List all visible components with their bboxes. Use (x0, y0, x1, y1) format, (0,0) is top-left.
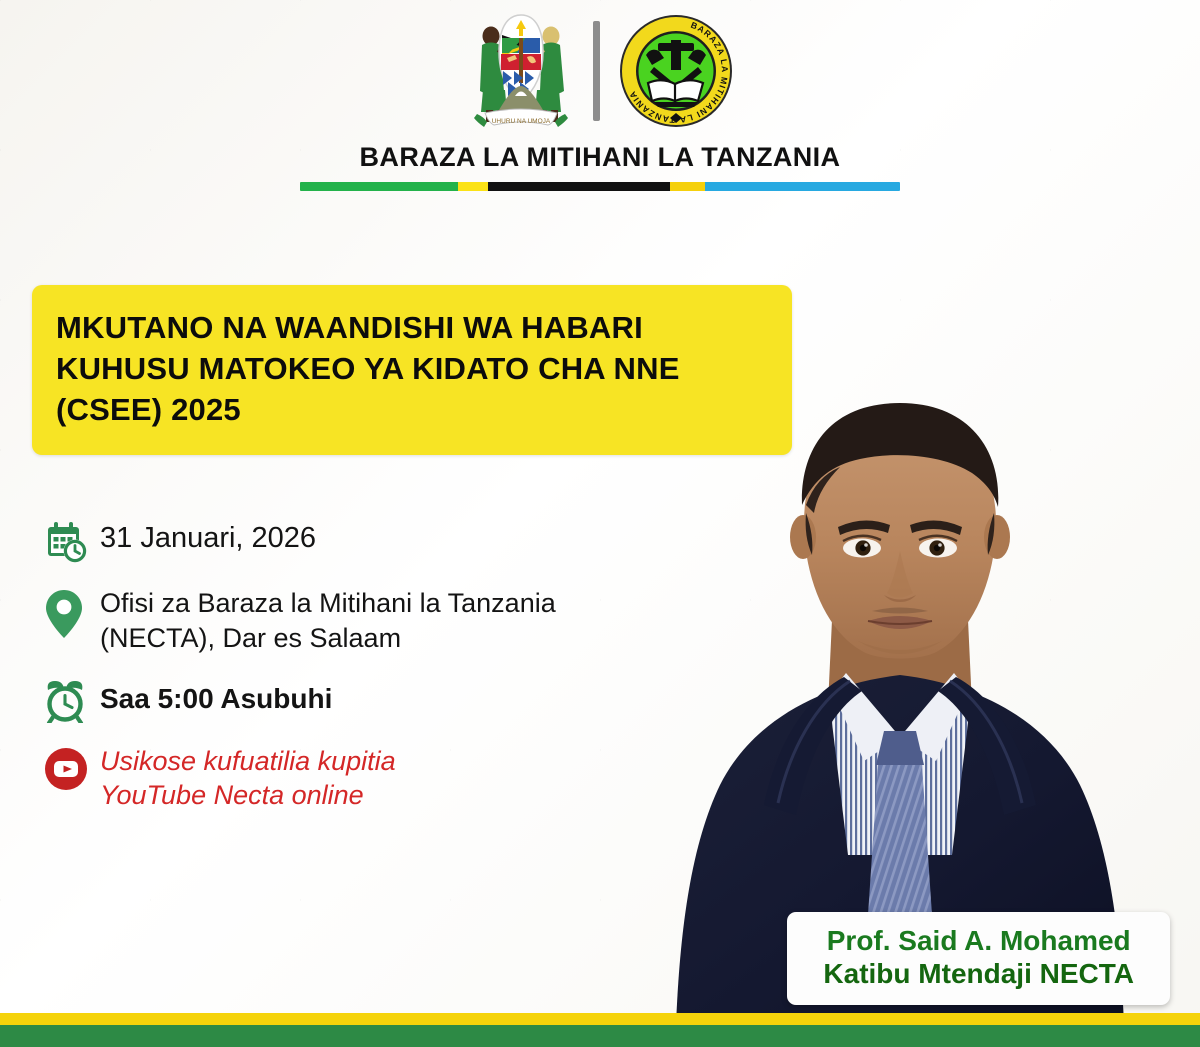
nameplate-name: Prof. Said A. Mohamed (823, 924, 1134, 958)
svg-text:UHURU NA UMOJA: UHURU NA UMOJA (491, 118, 550, 125)
detail-row-location: Ofisi za Baraza la Mitihani la Tanzania … (44, 586, 744, 655)
detail-location-line-1: Ofisi za Baraza la Mitihani la Tanzania (100, 586, 556, 621)
stripe-segment-black (488, 182, 670, 191)
headline-line-3: (CSEE) 2025 (56, 389, 768, 430)
youtube-icon[interactable] (44, 747, 88, 791)
detail-stream-line-2: YouTube Necta online (100, 779, 396, 813)
logo-divider (593, 21, 600, 121)
stripe-segment-yellow (458, 182, 488, 191)
poster-canvas: UHURU NA UMOJA BARAZA LA MITIHANI LA TAN… (0, 0, 1200, 1047)
detail-stream-line-1: Usikose kufuatilia kupitia (100, 745, 396, 779)
youtube-icon-wrap[interactable] (44, 745, 100, 791)
stripe-segment-blue (705, 182, 900, 191)
logo-row: UHURU NA UMOJA BARAZA LA MITIHANI LA TAN… (467, 10, 734, 132)
necta-emblem-icon: BARAZA LA MITIHANI LA TANZANIA (618, 13, 734, 129)
calendar-clock-icon (44, 520, 88, 564)
alarm-clock-icon-wrap (44, 677, 100, 723)
footer-yellow-bar (0, 1013, 1200, 1025)
headline-line-2: KUHUSU MATOKEO YA KIDATO CHA NNE (56, 348, 768, 389)
detail-row-date: 31 Januari, 2026 (44, 518, 744, 564)
alarm-clock-icon (44, 679, 86, 723)
poster-header: UHURU NA UMOJA BARAZA LA MITIHANI LA TAN… (0, 0, 1200, 205)
detail-row-time: Saa 5:00 Asubuhi (44, 677, 744, 723)
detail-location-text: Ofisi za Baraza la Mitihani la Tanzania … (100, 586, 556, 655)
event-details-list: 31 Januari, 2026 Ofisi za Baraza la Miti… (44, 518, 744, 835)
detail-location-line-2: (NECTA), Dar es Salaam (100, 621, 556, 656)
stripe-segment-yellow-2 (670, 182, 705, 191)
detail-time-text: Saa 5:00 Asubuhi (100, 677, 332, 717)
detail-stream-text: Usikose kufuatilia kupitia YouTube Necta… (100, 745, 396, 813)
nameplate-title: Katibu Mtendaji NECTA (823, 957, 1134, 991)
location-pin-icon-wrap (44, 586, 100, 640)
calendar-clock-icon-wrap (44, 518, 100, 564)
location-pin-icon (44, 588, 84, 640)
organization-title: BARAZA LA MITIHANI LA TANZANIA (360, 142, 841, 173)
flag-color-stripe (300, 182, 900, 191)
detail-row-stream: Usikose kufuatilia kupitia YouTube Necta… (44, 745, 744, 813)
coat-of-arms-icon: UHURU NA UMOJA (467, 10, 575, 132)
headline-line-1: MKUTANO NA WAANDISHI WA HABARI (56, 307, 768, 348)
footer-green-bar (0, 1025, 1200, 1047)
nameplate-card: Prof. Said A. Mohamed Katibu Mtendaji NE… (787, 912, 1170, 1005)
stripe-segment-green (300, 182, 458, 191)
headline-banner: MKUTANO NA WAANDISHI WA HABARI KUHUSU MA… (32, 285, 792, 455)
detail-date-text: 31 Januari, 2026 (100, 518, 316, 557)
